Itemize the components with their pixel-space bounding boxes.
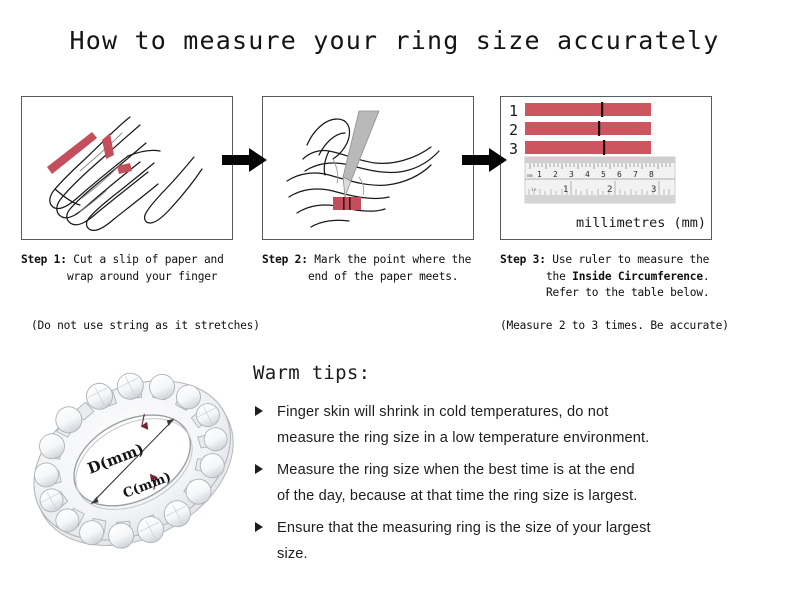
ruler-unit-caption: millimetres (mm): [576, 215, 706, 231]
step-3-line2-strong: Inside Circumference: [572, 270, 703, 283]
step-1-label: Step 1:: [21, 253, 67, 266]
tip-item: Measure the ring size when the best time…: [253, 457, 773, 509]
steps-row: Step 1: Cut a slip of paper and wrap aro…: [0, 0, 789, 340]
step-1-note: (Do not use string as it stretches): [31, 318, 271, 333]
step-3-caption: Step 3: Use ruler to measure the the Ins…: [500, 252, 730, 302]
step-3-note: (Measure 2 to 3 times. Be accurate): [500, 318, 740, 333]
paper-strip-shape: [47, 132, 132, 174]
step-3-line1: Use ruler to measure the: [552, 253, 709, 266]
step-3-line2-pre: the: [546, 270, 572, 283]
step-1-line1: Cut a slip of paper and: [73, 253, 223, 266]
tip-item: Finger skin will shrink in cold temperat…: [253, 399, 773, 451]
right-arrow-icon: [462, 147, 508, 173]
tip-line: Finger skin will shrink in cold temperat…: [277, 399, 773, 425]
ruler-shape: 123 456 78 mm 123 in: [525, 157, 675, 203]
warm-tips-section: Warm tips: Finger skin will shrink in co…: [253, 362, 773, 573]
triangle-bullet-icon: [255, 522, 263, 532]
ruler-mm-unit: mm: [527, 174, 533, 179]
step-2-caption: Step 2: Mark the point where the end of …: [262, 252, 492, 285]
step-1-caption: Step 1: Cut a slip of paper and wrap aro…: [21, 252, 251, 285]
svg-text:2: 2: [607, 185, 612, 195]
hand-marking-strip-with-pen-icon: [263, 97, 474, 240]
step-2-label: Step 2:: [262, 253, 308, 266]
svg-text:1: 1: [563, 185, 568, 195]
tip-line: Measure the ring size when the best time…: [277, 457, 773, 483]
step-3-line2: the Inside Circumference.: [500, 269, 730, 286]
right-arrow-icon: [222, 147, 268, 173]
diamond-ring-photo-icon: D(mm) C(mm): [18, 348, 250, 580]
strip-label-1: 1: [509, 102, 518, 120]
step-1-illustration-panel: [21, 96, 233, 240]
tip-line: size.: [277, 541, 773, 567]
svg-text:7: 7: [633, 170, 638, 179]
step-3-illustration-panel: 1 2 3: [500, 96, 712, 240]
svg-text:5: 5: [601, 170, 606, 179]
arrow-step1-to-step2: [222, 147, 268, 173]
tip-line: measure the ring size in a low temperatu…: [277, 425, 773, 451]
tip-line: Ensure that the measuring ring is the si…: [277, 515, 773, 541]
arrow-step2-to-step3: [462, 147, 508, 173]
step-2-line1: Mark the point where the: [314, 253, 471, 266]
strips-with-ruler-icon: 1 2 3: [501, 97, 712, 240]
ring-figure: D(mm) C(mm): [18, 348, 250, 580]
svg-text:8: 8: [649, 170, 654, 179]
strip-label-2: 2: [509, 121, 518, 139]
measured-strips-shape: [525, 102, 651, 155]
tip-line: of the day, because at that time the rin…: [277, 483, 773, 509]
triangle-bullet-icon: [255, 464, 263, 474]
strip-label-3: 3: [509, 140, 518, 158]
step-3-label: Step 3:: [500, 253, 546, 266]
warm-tips-title: Warm tips:: [253, 362, 773, 384]
svg-text:3: 3: [651, 185, 656, 195]
svg-text:4: 4: [585, 170, 590, 179]
hand-with-paper-strip-icon: [22, 97, 233, 240]
step-2-illustration-panel: [262, 96, 474, 240]
paper-strip-on-finger-shape: [333, 197, 361, 210]
triangle-bullet-icon: [255, 406, 263, 416]
step-3-line2-post: .: [703, 270, 710, 283]
step-2-line2: end of the paper meets.: [262, 269, 492, 286]
tip-item: Ensure that the measuring ring is the si…: [253, 515, 773, 567]
step-3-line3: Refer to the table below.: [500, 285, 730, 302]
svg-text:3: 3: [569, 170, 574, 179]
svg-text:2: 2: [553, 170, 558, 179]
svg-text:6: 6: [617, 170, 622, 179]
svg-text:1: 1: [537, 170, 542, 179]
step-1-line2: wrap around your finger: [21, 269, 251, 286]
